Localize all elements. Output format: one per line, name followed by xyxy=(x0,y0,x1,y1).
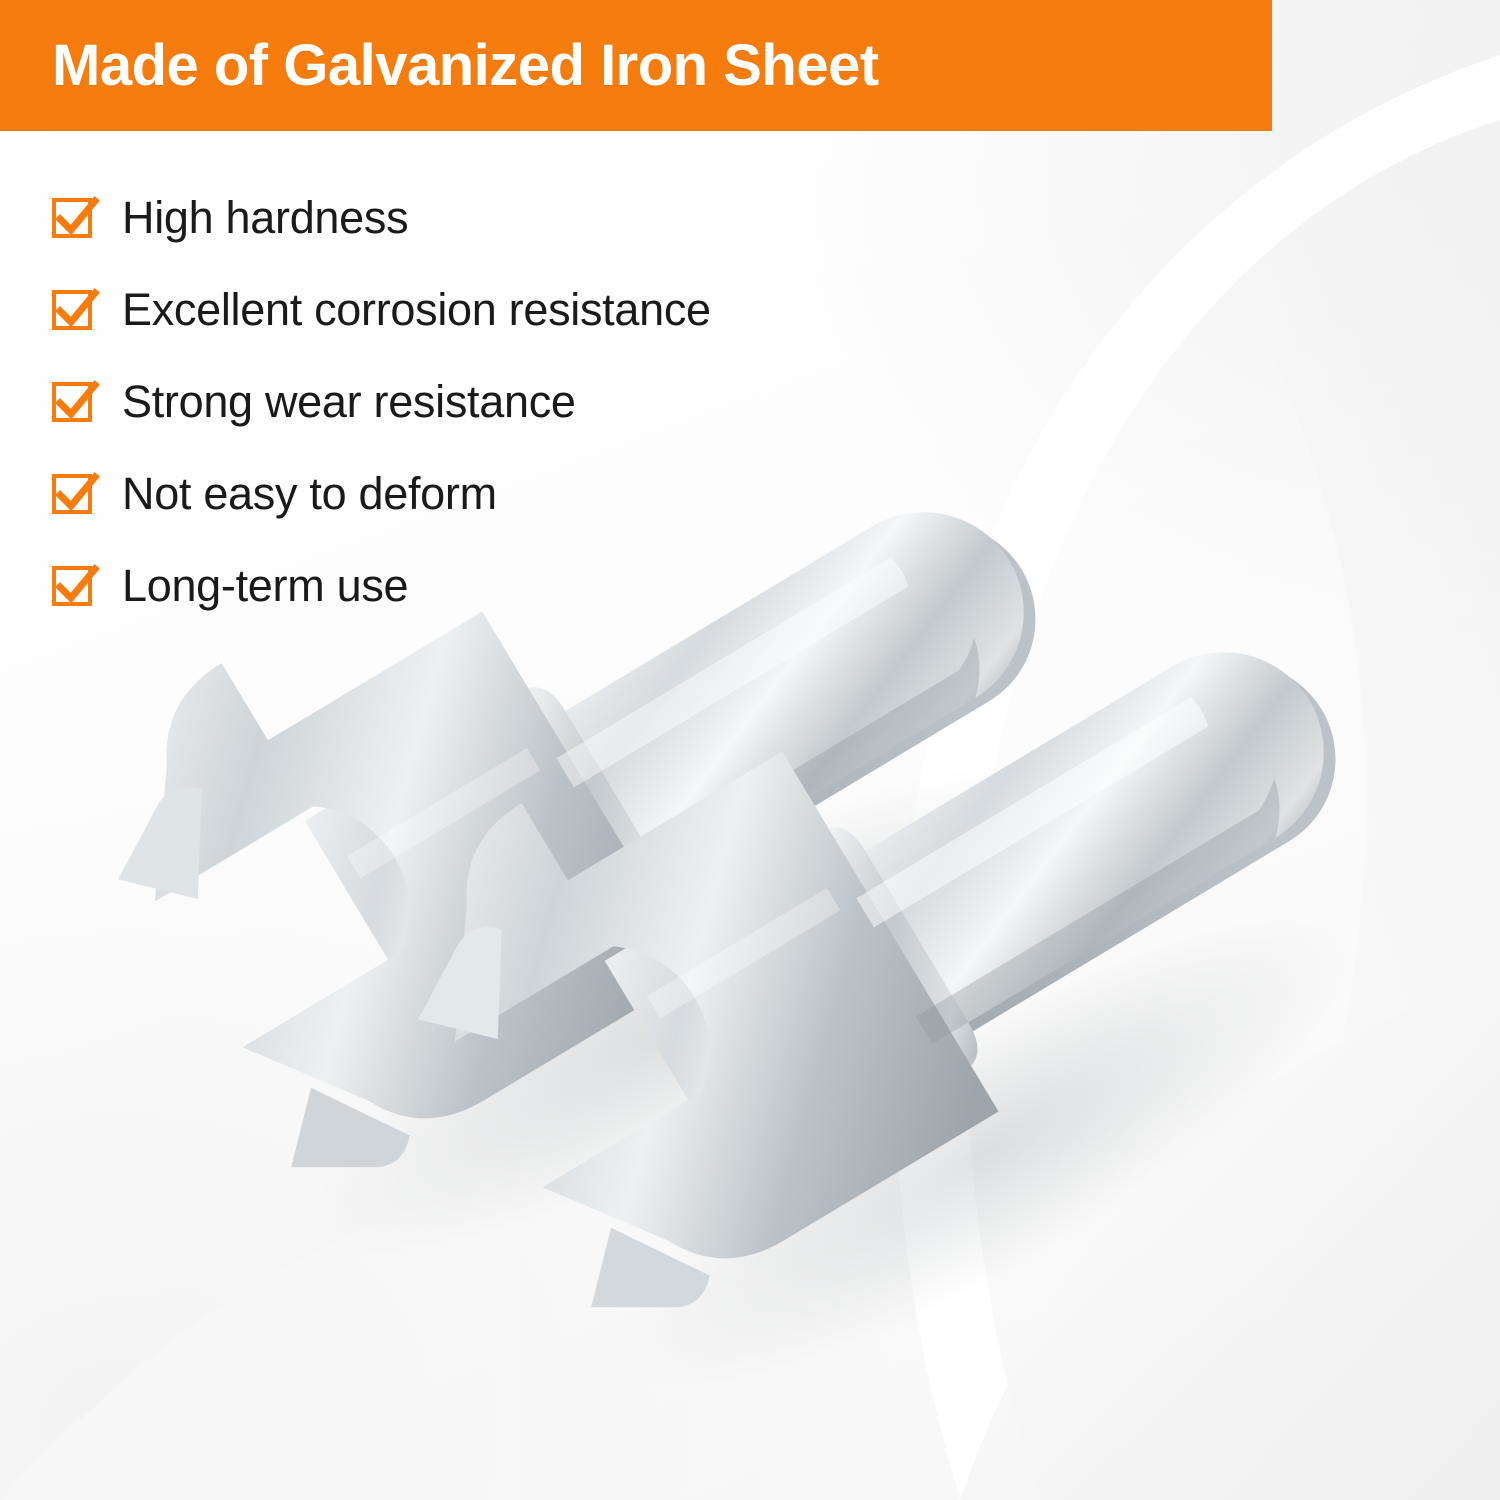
checkbox-check-icon xyxy=(52,474,92,514)
list-item: Strong wear resistance xyxy=(52,356,711,448)
feature-label: Not easy to deform xyxy=(122,468,497,520)
list-item: Not easy to deform xyxy=(52,448,711,540)
checkbox-check-icon xyxy=(52,566,92,606)
checkbox-check-icon xyxy=(52,198,92,238)
feature-label: Long-term use xyxy=(122,560,408,612)
header-banner: Made of Galvanized Iron Sheet xyxy=(0,0,1272,131)
checkbox-check-icon xyxy=(52,290,92,330)
feature-label: Strong wear resistance xyxy=(122,376,576,428)
page-title: Made of Galvanized Iron Sheet xyxy=(0,32,879,99)
checkbox-check-icon xyxy=(52,382,92,422)
list-item: Long-term use xyxy=(52,540,711,632)
list-item: High hardness xyxy=(52,172,711,264)
feature-label: High hardness xyxy=(122,192,408,244)
list-item: Excellent corrosion resistance xyxy=(52,264,711,356)
feature-list: High hardness Excellent corrosion resist… xyxy=(52,172,711,632)
feature-label: Excellent corrosion resistance xyxy=(122,284,711,336)
